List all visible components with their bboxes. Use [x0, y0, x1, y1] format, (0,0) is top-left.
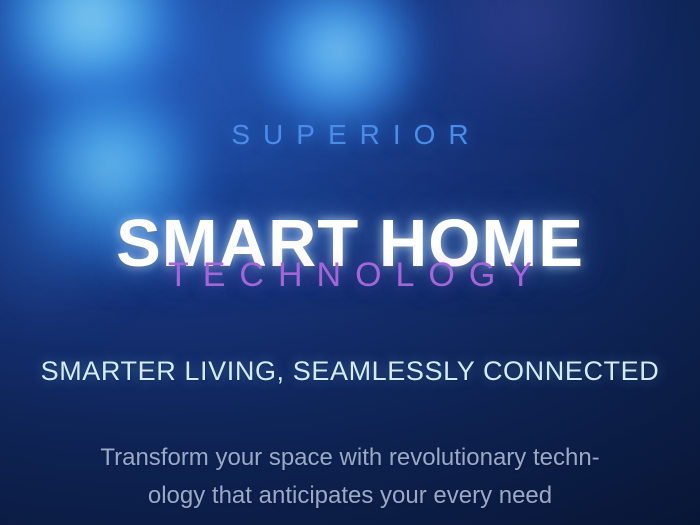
poster-content: SUPERIOR SMART HOME TECHNOLOGY SMARTER L…	[0, 0, 700, 525]
body-copy: Transform your space with revolutionary …	[50, 439, 650, 515]
tagline-text: SMARTER LIVING, SEAMLESSLY CONNECTED	[0, 356, 700, 387]
promo-poster: SUPERIOR SMART HOME TECHNOLOGY SMARTER L…	[0, 0, 700, 525]
eyebrow-text: SUPERIOR	[0, 119, 700, 151]
body-copy-line-2: ology that anticipates your every need	[50, 477, 650, 515]
body-copy-line-1: Transform your space with revolutionary …	[50, 439, 650, 477]
subtitle-text: TECHNOLOGY	[0, 256, 700, 295]
